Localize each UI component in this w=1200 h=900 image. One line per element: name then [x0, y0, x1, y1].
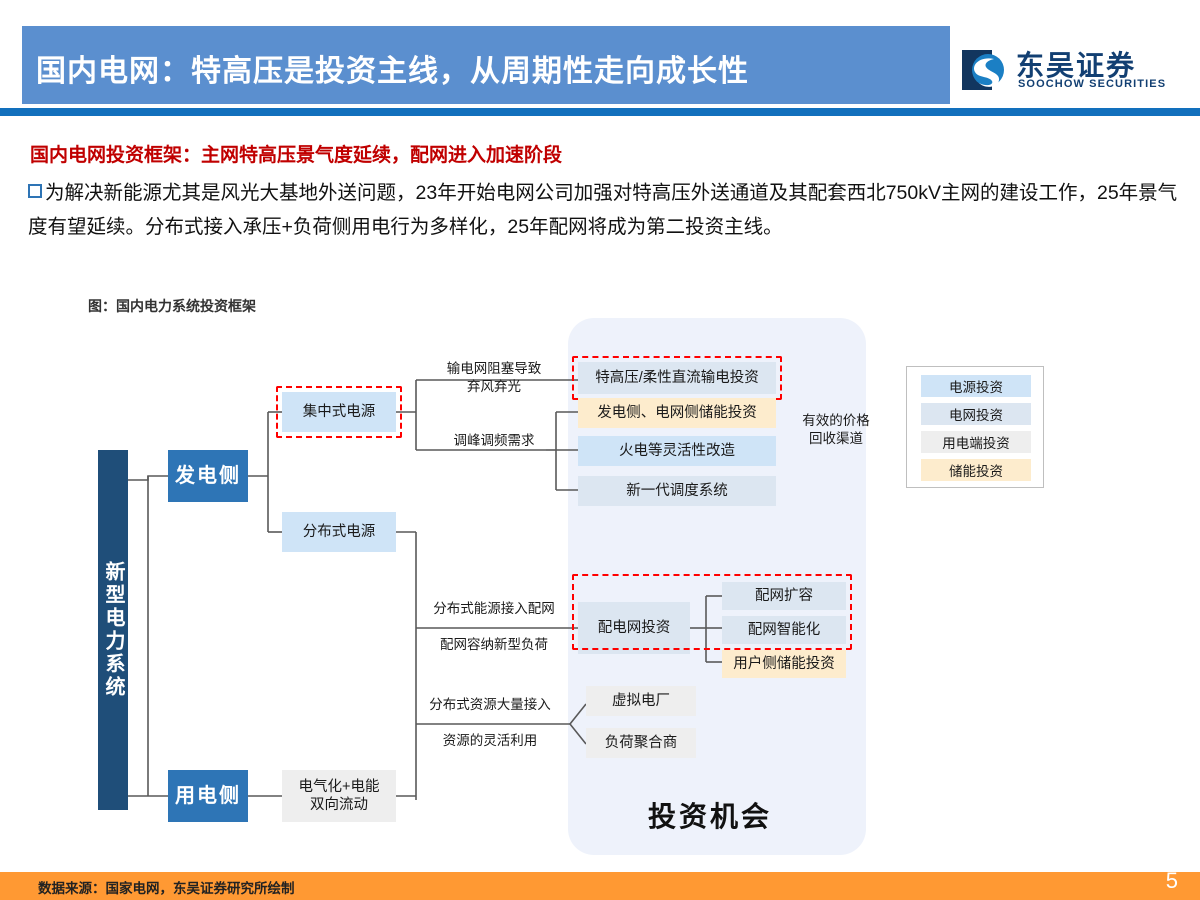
node-distribution-grid-investment: 配电网投资 [578, 602, 690, 654]
edge-label-mass-der-integration: 分布式资源大量接入 [410, 696, 570, 714]
node-generation-side: 发电侧 [168, 450, 248, 502]
edge-label-grid-hosts-new-load: 配网容纳新型负荷 [418, 636, 570, 654]
label-effective-price-recovery: 有效的价格 回收渠道 [786, 412, 886, 448]
node-gen-grid-storage-investment: 发电侧、电网侧储能投资 [578, 398, 776, 428]
node-electrification: 电气化+电能 双向流动 [282, 770, 396, 822]
soochow-logo-icon [962, 48, 1006, 92]
root-node-new-power-system: 新型电力系统 [98, 450, 128, 810]
legend-box: 电源投资 电网投资 用电端投资 储能投资 [906, 366, 1044, 488]
header-divider [0, 108, 1200, 116]
node-load-aggregator: 负荷聚合商 [586, 728, 696, 758]
page-title: 国内电网：特高压是投资主线，从周期性走向成长性 [36, 46, 749, 90]
node-virtual-power-plant: 虚拟电厂 [586, 686, 696, 716]
node-distribution-capacity-expansion: 配网扩容 [722, 582, 846, 610]
node-centralized-power: 集中式电源 [282, 392, 396, 432]
logo-text-en: SOOCHOW SECURITIES [1018, 78, 1166, 90]
node-load-side: 用电侧 [168, 770, 248, 822]
node-uhv-investment: 特高压/柔性直流输电投资 [578, 362, 776, 394]
edge-label-flexible-resource-use: 资源的灵活利用 [410, 732, 570, 750]
legend-item-demand-side-investment: 用电端投资 [921, 431, 1031, 453]
legend-item-power-source-investment: 电源投资 [921, 375, 1031, 397]
slide: 国内电网：特高压是投资主线，从周期性走向成长性 东吴证券 SOOCHOW SEC… [0, 0, 1200, 900]
company-logo: 东吴证券 SOOCHOW SECURITIES [962, 44, 1162, 100]
legend-item-storage-investment: 储能投资 [921, 459, 1031, 481]
node-user-side-storage-investment: 用户侧储能投资 [722, 650, 846, 678]
footer-source: 数据来源：国家电网，东吴证券研究所绘制 [38, 877, 295, 897]
paragraph-block: 为解决新能源尤其是风光大基地外送问题，23年开始电网公司加强对特高压外送通道及其… [28, 176, 1178, 244]
edge-label-der-access-to-grid: 分布式能源接入配网 [418, 600, 570, 618]
node-thermal-flexibility-retrofit: 火电等灵活性改造 [578, 436, 776, 466]
node-distributed-power: 分布式电源 [282, 512, 396, 552]
bullet-square-icon [28, 184, 42, 198]
body-paragraph: 为解决新能源尤其是风光大基地外送问题，23年开始电网公司加强对特高压外送通道及其… [28, 182, 1177, 238]
edge-label-peak-frequency: 调峰调频需求 [434, 432, 554, 450]
page-number: 5 [1166, 868, 1178, 894]
diagram-canvas: 投资机会 [0, 300, 1200, 870]
section-lead: 国内电网投资框架：主网特高压景气度延续，配网进入加速阶段 [30, 140, 1170, 167]
edge-label-grid-congestion: 输电网阻塞导致 弃风弃光 [434, 360, 554, 396]
node-new-generation-dispatch-system: 新一代调度系统 [578, 476, 776, 506]
legend-item-grid-investment: 电网投资 [921, 403, 1031, 425]
node-distribution-intelligence: 配网智能化 [722, 616, 846, 644]
